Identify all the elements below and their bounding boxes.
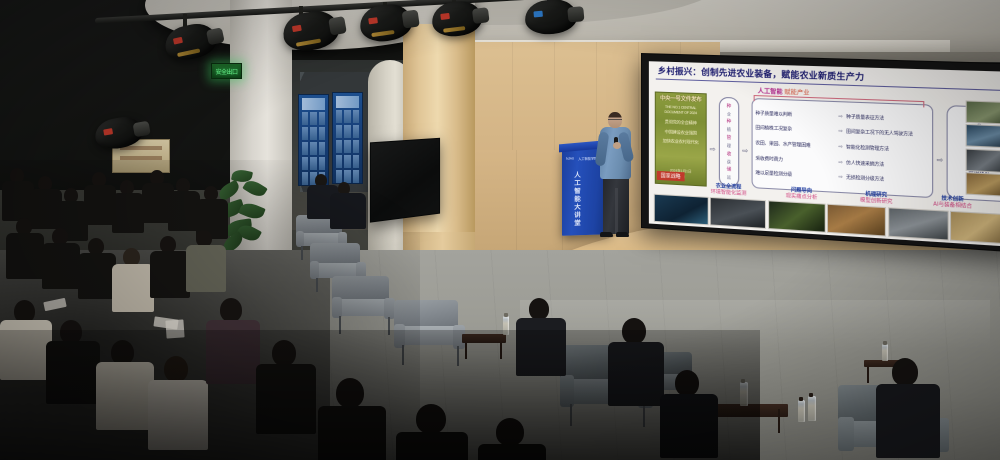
board-cell — [319, 142, 325, 155]
spotlight-marker — [103, 128, 113, 135]
spotlight-brand — [443, 26, 465, 33]
chain-stage-label: 种 — [727, 120, 732, 125]
field-sensor-photo — [654, 194, 709, 226]
speaker-hand — [613, 142, 621, 149]
led-presentation-screen[interactable]: 乡村振兴：创制先进农业装备，赋能农业新质生产力 人工智能 赋能产业 中央一号文件… — [641, 53, 1000, 253]
slide-caption-problem: 问题导向 现实痛点分析 — [786, 187, 818, 202]
harvest-photo — [950, 211, 1000, 245]
speaker-legs — [603, 176, 629, 234]
spotlight-lens — [328, 16, 347, 36]
water-bottle[interactable] — [740, 382, 748, 406]
seated-guest — [330, 182, 368, 236]
plaque-line — [120, 156, 162, 160]
chair-arm-left — [838, 417, 854, 451]
arrow-icon: ⇨ — [838, 129, 842, 135]
chair-leg — [457, 346, 459, 366]
chain-stage-label: 管 — [727, 136, 732, 141]
person-body — [148, 380, 208, 450]
audience-member — [516, 298, 568, 378]
problem-label: 难以足量检测分级 — [755, 170, 835, 180]
chair-leg — [570, 404, 572, 426]
person-body — [330, 193, 366, 229]
method-label: 智能化检测管理方法 — [846, 144, 929, 154]
board-cell — [310, 142, 316, 155]
table-leg — [500, 343, 502, 359]
board-cell — [336, 140, 342, 153]
exit-sign: 安全出口 — [211, 63, 242, 79]
person-head — [272, 340, 296, 366]
board-cell — [336, 110, 342, 123]
person-head — [496, 418, 524, 446]
board-cell — [336, 155, 342, 168]
audience-member — [876, 358, 942, 460]
podium-logo-left: NJAU — [566, 156, 574, 161]
problem-label: 采收费时费力 — [755, 155, 835, 165]
slide-photo-column — [966, 100, 1000, 197]
floor-reflection — [520, 300, 990, 350]
person-body — [318, 406, 386, 460]
eyeglasses-icon — [608, 119, 622, 122]
board-cell — [302, 127, 308, 140]
person-body — [516, 318, 566, 376]
spotlight-marker — [369, 17, 379, 24]
arrow-icon: ⇨ — [838, 174, 842, 180]
table-row: 种子质量难以判断 ⇨ 种子质量表征方法 — [755, 110, 928, 123]
poster-bullet: 中国建设农业强国 — [659, 128, 703, 137]
person-body — [46, 341, 100, 404]
poster-english-line: THE NO.1 CENTRAL DOCUMENT OF 2024 — [659, 105, 703, 118]
spotlight-lens — [472, 7, 490, 24]
slide-caption-monitoring: 农业全流程 环境智能化监测 — [711, 183, 747, 198]
chain-divider-label: 获 — [727, 160, 731, 164]
ai-header-highlight: 人工智能 — [758, 89, 783, 96]
audience-member — [478, 418, 548, 460]
person-body — [42, 243, 80, 289]
audience-member — [608, 318, 666, 408]
spotlight-lens — [402, 10, 420, 29]
chair-leg — [402, 345, 404, 365]
person-body — [150, 251, 190, 298]
chair-arm-left — [296, 231, 304, 247]
podium-vertical-text: 人工智能大讲堂 — [572, 171, 579, 227]
board-cell — [344, 140, 350, 153]
table-row: 难以足量检测分级 ⇨ 无损检测分级方法 — [755, 170, 928, 185]
person-body — [0, 320, 52, 380]
person-body — [256, 364, 316, 434]
person-body — [96, 362, 154, 430]
equipment-yard-photo — [966, 172, 1000, 197]
national-strategy-tag: 国家战略 — [657, 171, 685, 182]
board-header-bar — [336, 96, 359, 108]
tractor-field-photo — [966, 100, 1000, 124]
board-cell — [302, 157, 308, 170]
board-cell — [344, 125, 350, 138]
spotlight-marker — [440, 13, 450, 20]
audience-member — [148, 356, 210, 452]
board-cell-grid — [333, 110, 362, 184]
chain-stage-label: 收 — [727, 152, 732, 157]
slide-caption-innovation: 技术创新 AI与装备相结合 — [933, 195, 972, 211]
exit-sign-label: 安全出口 — [215, 67, 237, 76]
spotlight-marker — [534, 11, 543, 18]
board-header-bar — [302, 98, 325, 110]
person-body — [78, 253, 116, 299]
audience-member — [112, 180, 146, 234]
table-row: 农田、果园、水产管理困难 ⇨ 智能化检测管理方法 — [755, 140, 928, 154]
chain-stage-label: 储 — [727, 168, 732, 173]
info-board-left — [298, 94, 329, 186]
chain-divider-label: 理 — [727, 144, 731, 148]
wall-monitor[interactable] — [370, 138, 440, 223]
robot-arm-photo — [966, 148, 1000, 173]
person-head — [529, 298, 549, 320]
chain-divider-label: 业 — [727, 112, 731, 116]
method-label: 种子质量表征方法 — [846, 114, 929, 123]
crop-scan-photo — [768, 200, 826, 232]
armchair[interactable] — [332, 276, 398, 338]
arrow-icon: ⇨ — [838, 159, 842, 165]
spotlight-brand — [372, 30, 395, 37]
spotlight-marker — [292, 25, 302, 32]
chair-leg — [301, 246, 303, 260]
chair-leg — [388, 317, 390, 335]
audience-member — [46, 320, 102, 406]
table-leg — [867, 367, 869, 383]
person-body — [6, 233, 44, 279]
speaker-shoe — [600, 232, 613, 237]
person-head — [675, 370, 699, 396]
board-cell — [319, 157, 325, 170]
table-row: 田间植株工况复杂 ⇨ 田间复杂工况下的无人驾驶方法 — [755, 125, 928, 139]
arrow-icon: ⇨ — [710, 145, 716, 153]
speaker-presenter — [597, 112, 635, 237]
spotlight-lens — [133, 121, 151, 137]
spotlight-brand — [296, 38, 321, 46]
board-cell — [319, 112, 325, 125]
table-row: 采收费时费力 ⇨ 仿人快速采摘方法 — [755, 155, 928, 170]
board-cell — [353, 110, 359, 123]
person-body — [608, 342, 664, 406]
water-bottle[interactable] — [798, 400, 805, 422]
greenhouse-photo — [710, 197, 766, 229]
board-cell — [344, 110, 350, 123]
speaker-shoe — [616, 232, 629, 237]
board-cell — [353, 155, 359, 168]
method-label: 无损检测分级方法 — [846, 175, 929, 185]
problem-label: 种子质量难以判断 — [755, 110, 835, 119]
slide-ai-header: 人工智能 赋能产业 — [758, 86, 810, 97]
audience-member — [6, 218, 46, 280]
audience-member — [186, 230, 228, 294]
person-head — [622, 318, 646, 344]
spotlight-brand — [177, 48, 200, 57]
arrow-icon: ⇨ — [838, 113, 842, 119]
board-cell — [310, 127, 316, 140]
chain-divider-label: 植 — [727, 128, 731, 132]
audience-member — [42, 228, 82, 290]
person-body — [112, 264, 154, 312]
audience-member — [396, 404, 470, 460]
board-cell — [310, 112, 316, 125]
poster-bullet: 加快农业农村现代化 — [659, 138, 703, 147]
audience-member — [96, 340, 156, 432]
soil-sample-photo — [827, 204, 886, 237]
person-body — [112, 193, 144, 233]
chair-arm-left — [332, 297, 342, 318]
armchair[interactable] — [394, 300, 468, 370]
info-board-right — [332, 92, 363, 184]
person-body — [186, 245, 226, 292]
method-label: 田间复杂工况下的无人驾驶方法 — [846, 129, 929, 139]
poster-bullet: 贯彻党的全会精神 — [659, 119, 703, 128]
board-cell — [302, 112, 308, 125]
problem-method-table: 种子质量难以判断 ⇨ 种子质量表征方法 田间植株工况复杂 ⇨ 田间复杂工况下的无… — [751, 98, 933, 198]
spotlight-lens — [567, 6, 584, 23]
chain-divider-label: 运 — [727, 176, 731, 180]
table-leg — [778, 409, 780, 433]
person-body — [660, 394, 718, 458]
audience-member — [256, 340, 318, 436]
arrow-icon: ⇨ — [742, 146, 748, 154]
slide-surface: 乡村振兴：创制先进农业装备，赋能农业新质生产力 人工智能 赋能产业 中央一号文件… — [649, 61, 1000, 247]
lecture-hall-screenshot: 安全出口 — [0, 0, 1000, 460]
ai-header-rest: 赋能产业 — [783, 90, 810, 97]
problem-label: 农田、果园、水产管理困难 — [755, 140, 835, 150]
board-cell — [353, 140, 359, 153]
person-body — [478, 444, 546, 460]
person-body — [206, 320, 260, 384]
water-bottle[interactable] — [503, 316, 509, 335]
method-label: 仿人快速采摘方法 — [846, 160, 929, 170]
person-head — [220, 298, 242, 322]
chair-leg — [339, 316, 341, 334]
person-head — [892, 358, 918, 386]
chair-leg — [316, 278, 318, 292]
chain-stage-label: 种 — [727, 104, 732, 109]
machinery-row-photo — [888, 207, 949, 240]
board-cell — [302, 142, 308, 155]
slide-caption-mechanism: 机理研究 模型创新研究 — [860, 191, 893, 206]
handout-paper — [165, 319, 184, 338]
audience-member — [206, 298, 262, 386]
arrow-icon: ⇨ — [838, 144, 842, 150]
person-head — [164, 356, 188, 382]
chair-arm-left — [310, 261, 319, 279]
podium-logo-row: NJAU 人工智能学院 — [566, 156, 597, 162]
board-cell — [319, 127, 325, 140]
spotlight-marker — [173, 37, 183, 45]
board-cell — [344, 155, 350, 168]
person-head — [336, 378, 364, 408]
problem-label: 田间植株工况复杂 — [755, 125, 835, 134]
person-body — [396, 432, 468, 460]
board-cell — [353, 125, 359, 138]
drone-spray-photo — [966, 124, 1000, 148]
table-leg — [465, 343, 467, 359]
audience-member — [318, 378, 388, 460]
arrow-icon: ⇨ — [937, 155, 944, 164]
process-chain-column: 种 业 种 植 管 理 收 获 储 运 — [719, 97, 739, 188]
audience-member — [660, 370, 720, 460]
person-head — [416, 404, 446, 434]
board-cell — [310, 157, 316, 170]
board-cell — [336, 125, 342, 138]
chair-arm-left — [560, 375, 574, 407]
side-table — [708, 404, 788, 417]
water-bottle[interactable] — [808, 396, 816, 421]
poster-headline: 中央一号文件发布 — [658, 96, 704, 104]
person-body — [876, 384, 940, 458]
side-table — [462, 334, 506, 343]
